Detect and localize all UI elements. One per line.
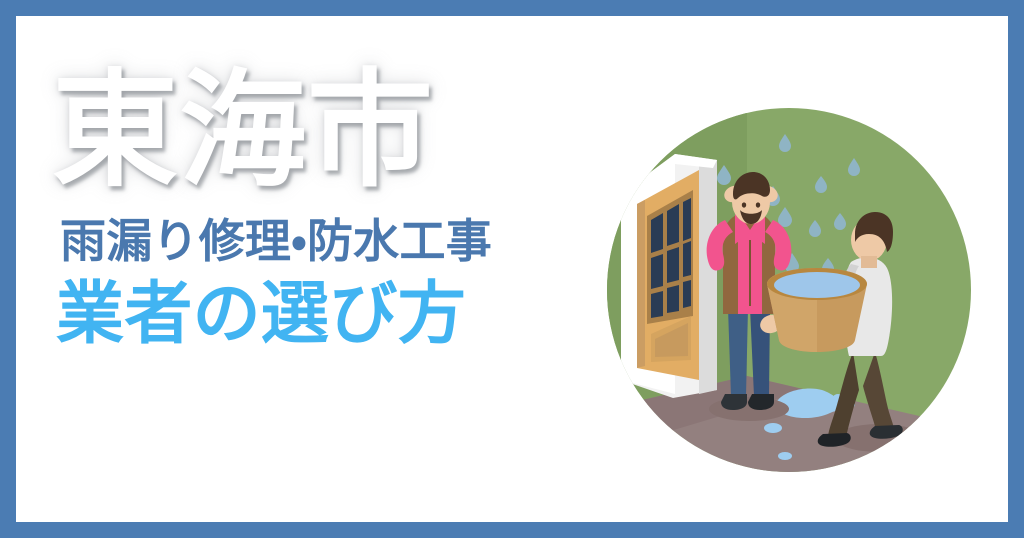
illustration-roof-leak (607, 108, 971, 472)
headline-text-block: 東海市 雨漏り修理・防水工事 業者の選び方 (52, 60, 612, 355)
inner-white-card: 東海市 雨漏り修理・防水工事 業者の選び方 (16, 16, 1008, 522)
worried-man-eye-left (742, 202, 746, 207)
worried-man-shoe-left (721, 394, 747, 410)
bucket-group (767, 268, 867, 352)
illustration-clipped-scene (607, 108, 971, 472)
puddle-droplet-b (764, 423, 782, 433)
subtitle-service: 雨漏り修理・防水工事 (60, 213, 612, 269)
illustration-svg (607, 108, 971, 472)
door-group (621, 154, 717, 398)
banner-root: 東海市 雨漏り修理・防水工事 業者の選び方 (0, 0, 1024, 538)
page-title-city: 東海市 (52, 60, 612, 201)
door-frame-right (699, 160, 717, 394)
bucket-man-neck (861, 256, 877, 268)
bucket-water (774, 272, 860, 298)
worried-man-eye-right (756, 202, 760, 207)
bucket-man-shoe-front (870, 425, 903, 439)
worried-man-shoe-right (748, 394, 774, 410)
worried-man-leg-left (728, 308, 748, 396)
subtitle-how-to-choose: 業者の選び方 (56, 275, 612, 355)
puddle-droplet-c (778, 452, 792, 460)
door-leaf-edge (637, 200, 645, 368)
